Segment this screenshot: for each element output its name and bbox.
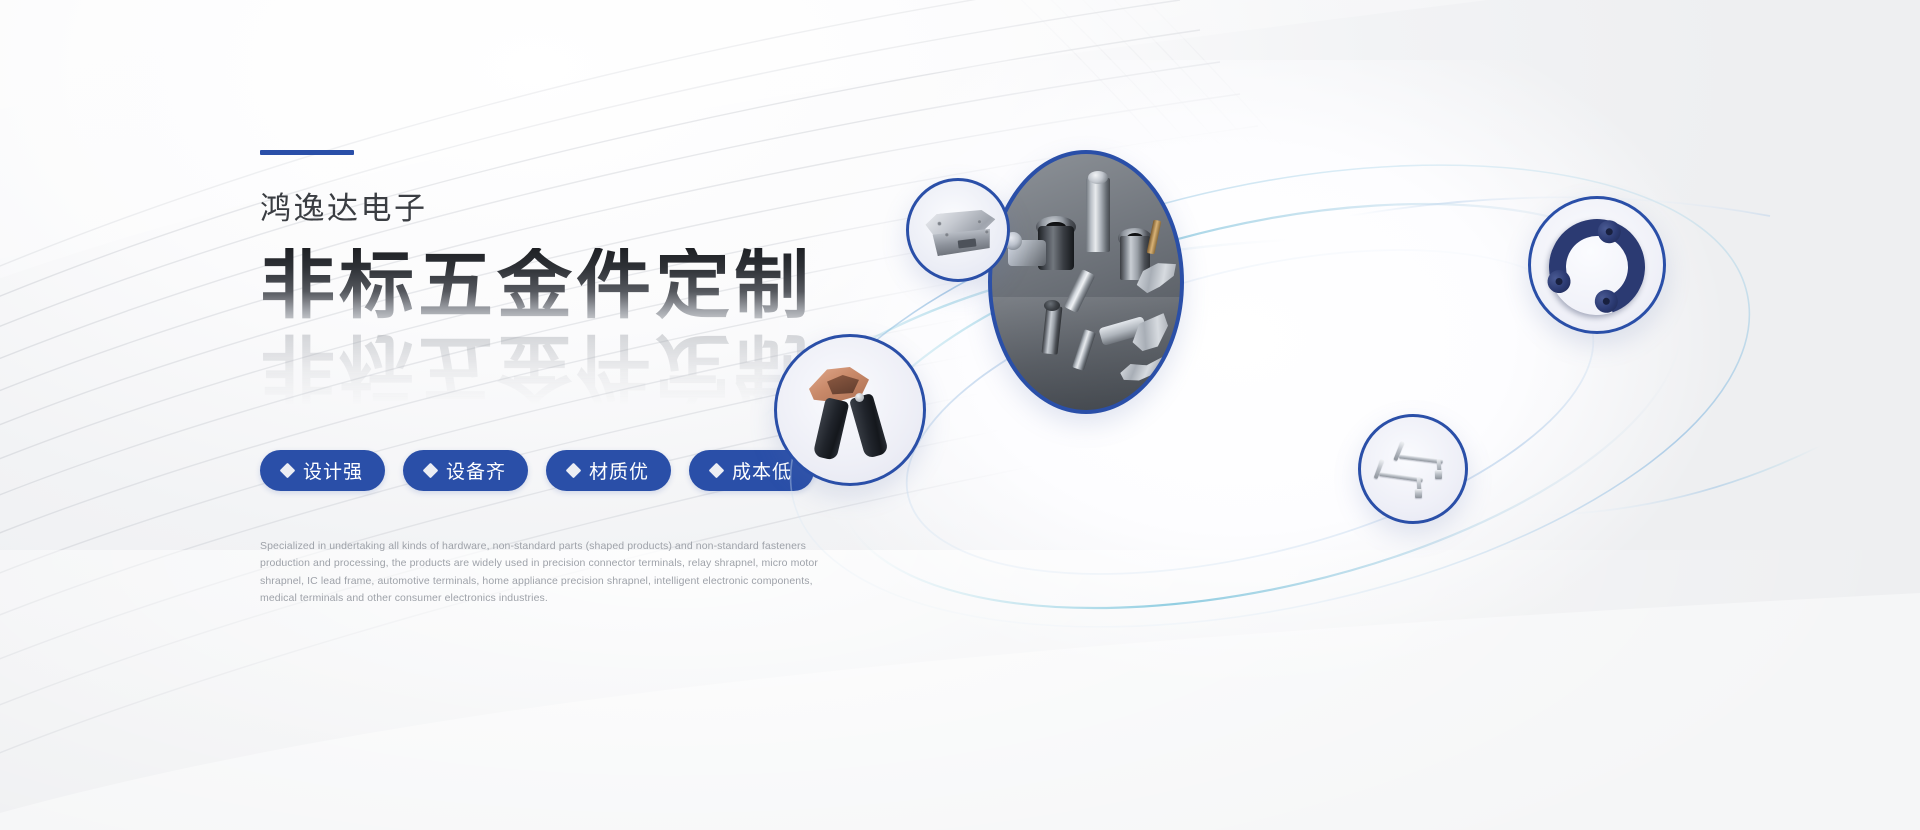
pin-tip — [1415, 489, 1422, 498]
node-main-machined-parts[interactable] — [988, 150, 1184, 414]
clamp-handle-left — [813, 397, 850, 461]
copper-clamp-art — [799, 363, 907, 463]
diamond-icon — [423, 463, 439, 479]
clip-c-ring — [1533, 203, 1661, 331]
diamond-icon — [280, 463, 296, 479]
part-small-cylinder-cap — [1044, 300, 1060, 311]
clamp-pivot-rivet — [855, 393, 864, 402]
feature-pill-material[interactable]: 材质优 — [546, 450, 671, 491]
parts-stage — [992, 154, 1180, 410]
feature-pill-label: 设计强 — [303, 457, 363, 484]
part-cylinder-cap — [1088, 171, 1108, 184]
stamped-enclosure-art — [922, 207, 1001, 264]
feature-pill-design[interactable]: 设计强 — [260, 450, 385, 491]
feature-pill-equipment[interactable]: 设备齐 — [403, 450, 528, 491]
feature-pill-label: 材质优 — [589, 457, 649, 484]
hero-banner: 鸿逸达电子 非标五金件定制 非标五金件定制 设计强 设备齐 材质优 成本低 — [0, 0, 1920, 830]
node-copper-clamp[interactable] — [774, 334, 926, 486]
accent-bar — [260, 150, 354, 155]
part-brass-pin — [1147, 220, 1162, 255]
bent-pin-art — [1375, 439, 1457, 501]
diamond-icon — [566, 463, 582, 479]
node-navy-retaining-clip[interactable] — [1528, 196, 1666, 334]
feature-pill-label: 设备齐 — [446, 457, 506, 484]
pin-tip — [1435, 470, 1442, 479]
node-bent-pin-terminals[interactable] — [1358, 414, 1468, 524]
node-stamped-enclosure[interactable] — [906, 178, 1010, 282]
diamond-icon — [709, 463, 725, 479]
retaining-clip-art — [1538, 208, 1657, 327]
product-showcase — [730, 120, 1830, 680]
part-tall-cylinder — [1086, 178, 1110, 252]
clamp-handle-right — [849, 393, 889, 459]
